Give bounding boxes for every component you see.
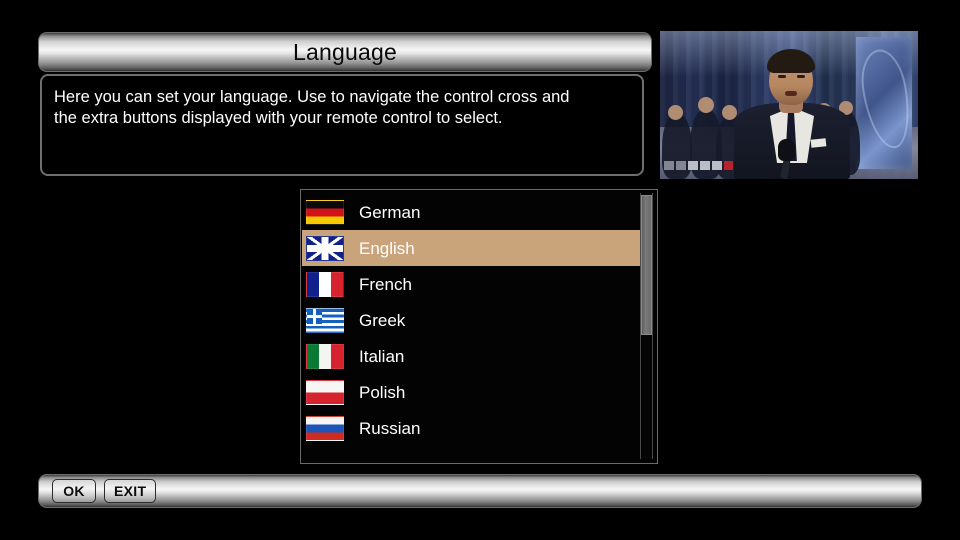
description-box: Here you can set your language. Use to n… (40, 74, 644, 176)
language-item-label: German (359, 204, 420, 221)
flag-pl-icon (306, 380, 344, 405)
language-item-label: Italian (359, 348, 404, 365)
bottom-action-bar: OK EXIT (38, 474, 922, 508)
language-item-label: Polish (359, 384, 405, 401)
ok-button[interactable]: OK (52, 479, 96, 503)
preview-channel-watermark (664, 161, 733, 170)
language-item-label: Greek (359, 312, 405, 329)
language-list-rows: GermanEnglishFrenchGreekItalianPolishRus… (302, 194, 644, 446)
language-item-label: French (359, 276, 412, 293)
exit-button[interactable]: EXIT (104, 479, 156, 503)
flag-fr-icon (306, 272, 344, 297)
live-tv-preview[interactable] (660, 31, 918, 179)
preview-reporter-eye (797, 75, 805, 78)
description-text: Here you can set your language. Use to n… (54, 87, 628, 129)
flag-ru-icon (306, 416, 344, 441)
language-item-russian[interactable]: Russian (302, 410, 644, 446)
page-title-bar: Language (38, 32, 652, 72)
list-scrollbar-thumb[interactable] (641, 195, 652, 335)
language-list[interactable]: GermanEnglishFrenchGreekItalianPolishRus… (300, 189, 658, 464)
flag-gb-icon (306, 236, 344, 261)
preview-reporter-pocket-square (811, 138, 827, 148)
preview-microphone-head (778, 139, 795, 161)
language-item-english[interactable]: English (302, 230, 642, 266)
language-item-greek[interactable]: Greek (302, 302, 644, 338)
flag-de-icon (306, 200, 344, 225)
language-item-label: Russian (359, 420, 420, 437)
language-item-german[interactable]: German (302, 194, 644, 230)
page-title: Language (293, 41, 397, 64)
language-item-french[interactable]: French (302, 266, 644, 302)
preview-crowd-head (698, 97, 714, 113)
language-item-label: English (359, 240, 415, 257)
list-scrollbar[interactable] (640, 193, 653, 459)
language-item-polish[interactable]: Polish (302, 374, 644, 410)
preview-crowd-head (668, 105, 683, 120)
preview-reporter-eye (778, 75, 786, 78)
preview-reporter-mouth (785, 91, 797, 96)
osd-screen: Language Here you can set your language.… (0, 0, 960, 540)
flag-it-icon (306, 344, 344, 369)
flag-gr-icon (306, 308, 344, 333)
language-item-italian[interactable]: Italian (302, 338, 644, 374)
